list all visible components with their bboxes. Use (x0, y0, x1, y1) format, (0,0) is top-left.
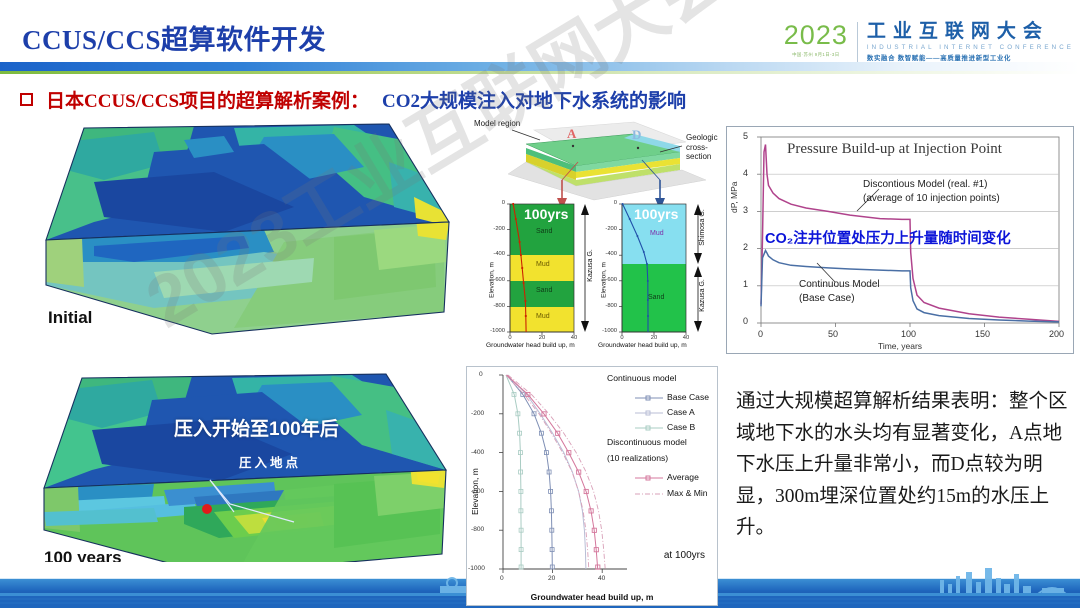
legend-header-continuous: Continuous model (607, 373, 676, 383)
model-region-diagram: Model region Geologic cross-section A D (474, 118, 729, 210)
profile-ytick-3: -600 (471, 488, 484, 495)
panel-a-ytick-0: 0 (488, 200, 505, 206)
logo-tagline-cn: 数实融合 数智赋能——高质量推进新型工业化 (867, 53, 1074, 62)
profile-ytick-4: -800 (471, 526, 484, 533)
subtitle-red: 日本CCUS/CCS项目的超算解析案例： (46, 86, 369, 113)
annotation-discontinuous-1: Discontious Model (real. #1) (863, 179, 988, 192)
label-model-region: Model region (474, 120, 520, 129)
logo-name-en: INDUSTRIAL INTERNET CONFERENCE (867, 44, 1074, 51)
profile-ytick-2: -400 (471, 449, 484, 456)
label-geologic: Geologic (686, 134, 718, 143)
conference-logo: 2023 中国·苏州 9月1日-3日 工业互联网大会 INDUSTRIAL IN… (784, 22, 1074, 62)
profile-note: at 100yrs (664, 550, 705, 561)
panel-a-lith-4: Mud (536, 313, 550, 320)
legend-item-average: Average (667, 472, 699, 482)
panel-a-xtick-0: 0 (502, 335, 518, 341)
label-point-a: A (567, 126, 576, 142)
panel-a-lith-2: Mud (536, 261, 550, 268)
injection-point-marker (202, 504, 212, 514)
panel-d-title: 100yrs (634, 206, 678, 222)
subtitle-blue: CO2大规模注入对地下水系统的影响 (382, 86, 686, 113)
subtitle: 日本CCUS/CCS项目的超算解析案例： CO2大规模注入对地下水系统的影响 (20, 86, 686, 113)
pressure-ytick-0: 0 (743, 316, 748, 326)
panel-d-ytick-4: -800 (600, 303, 617, 309)
annotation-continuous-2: (Base Case) (799, 293, 855, 306)
panel-a-ytick-5: -1000 (488, 328, 505, 334)
panel-d-ytick-1: -200 (600, 226, 617, 232)
pressure-chart-ylabel: dP, MPa (729, 181, 739, 213)
panel-a-ytick-1: -200 (488, 226, 505, 232)
panel-a-ytick-3: -600 (488, 277, 505, 283)
panel-a-lith-3: Sand (536, 287, 552, 294)
legend-item-maxmin: Max & Min (667, 488, 708, 498)
square-bullet-icon (20, 93, 33, 106)
panel-d-lith-1: Mud (650, 230, 664, 237)
pressure-xtick-4: 200 (1049, 329, 1064, 339)
legend-item-base-case: Base Case (667, 392, 709, 402)
pressure-ytick-3: 3 (743, 205, 748, 215)
logo-year-block: 2023 中国·苏州 9月1日-3日 (784, 22, 857, 58)
pressure-buildup-chart: Pressure Build-up at Injection Point CO₂… (726, 126, 1074, 354)
panel-a-xtick-2: 40 (566, 335, 582, 341)
panel-d-group-top: Shimosa G. (699, 209, 706, 246)
panel-d-xlabel: Groundwater head build up, m (598, 342, 687, 349)
profile-ytick-1: -200 (471, 410, 484, 417)
slide: CCUS/CCS超算软件开发 2023 中国·苏州 9月1日-3日 工业互联网大… (0, 0, 1080, 608)
visualization-100years: 压入开始至100年后 圧入地点 100 years (34, 372, 454, 592)
visualization-initial: Initial (34, 122, 454, 352)
profile-chart-svg (467, 367, 717, 605)
profile-xlabel: Groundwater head build up, m (467, 592, 717, 602)
annotation-continuous-1: Continuous Model (799, 279, 880, 292)
profile-ytick-5: -1000 (468, 565, 485, 572)
conclusion-text: 通过大规模超算解析结果表明：整个区域地下水的水头均有显著变化，A点地下水压上升量… (736, 386, 1076, 544)
legend-item-case-b: Case B (667, 422, 695, 432)
header-divider-blue (0, 62, 1080, 71)
block-3d-initial-svg (34, 122, 454, 352)
overlay-title-100y: 压入开始至100年后 (174, 414, 339, 441)
pressure-chart-highlight: CO₂注井位置处压力上升量随时间变化 (765, 227, 1011, 248)
profile-ytick-0: 0 (479, 371, 483, 378)
pressure-ytick-2: 2 (743, 242, 748, 252)
panel-d-ytick-0: 0 (600, 200, 617, 206)
panel-chart-a: 100yrs Sand Mud Sand Mud Elevation, m Gr… (488, 200, 598, 360)
panel-d-lith-2: Sand (648, 294, 664, 301)
panel-d-xtick-2: 40 (678, 335, 694, 341)
panel-a-xlabel: Groundwater head build up, m (486, 342, 575, 349)
panel-a-group-label: Kazusa G. (587, 249, 594, 282)
groundwater-profile-chart: Elevation, m Groundwater head build up, … (466, 366, 718, 606)
panel-a-ytick-4: -800 (488, 303, 505, 309)
logo-divider (857, 22, 858, 62)
pressure-xtick-2: 100 (901, 329, 916, 339)
pressure-chart-title: Pressure Build-up at Injection Point (787, 141, 1002, 158)
profile-xtick-2: 40 (598, 575, 605, 582)
page-title: CCUS/CCS超算软件开发 (22, 18, 326, 57)
header-divider-green (0, 71, 1080, 74)
pressure-ytick-1: 1 (743, 279, 748, 289)
panel-a-xtick-1: 20 (534, 335, 550, 341)
panel-d-ytick-2: -400 (600, 251, 617, 257)
pressure-chart-xlabel: Time, years (727, 341, 1073, 351)
panel-a-ytick-2: -400 (488, 251, 505, 257)
panel-a-lith-1: Sand (536, 228, 552, 235)
logo-year: 2023 (784, 22, 848, 49)
logo-name-block: 工业互联网大会 INDUSTRIAL INTERNET CONFERENCE 数… (867, 22, 1074, 62)
panel-d-ytick-3: -600 (600, 277, 617, 283)
annotation-discontinuous-2: (average of 10 injection points) (863, 193, 1000, 206)
pressure-ytick-5: 5 (743, 131, 748, 141)
panel-a-title: 100yrs (524, 206, 568, 222)
label-geologic-2: cross-section (686, 144, 729, 162)
legend-item-case-a: Case A (667, 407, 695, 417)
panel-d-group-bottom: Kazusa G. (699, 279, 706, 312)
panel-d-xtick-1: 20 (646, 335, 662, 341)
logo-name-cn: 工业互联网大会 (867, 22, 1074, 42)
model-region-svg (474, 118, 729, 210)
logo-year-subtext: 中国·苏州 9月1日-3日 (792, 52, 839, 58)
legend-subheader-realizations: (10 realizations) (607, 453, 668, 463)
overlay-sub-100y: 圧入地点 (239, 452, 301, 471)
panel-d-ytick-5: -1000 (600, 328, 617, 334)
block-caption-initial: Initial (48, 308, 92, 328)
profile-xtick-0: 0 (500, 575, 504, 582)
profile-xtick-1: 20 (548, 575, 555, 582)
pressure-ytick-4: 4 (743, 168, 748, 178)
panel-chart-d: 100yrs Mud Sand Elevation, m Groundwater… (600, 200, 718, 360)
pressure-xtick-0: 0 (758, 329, 763, 339)
panel-d-xtick-0: 0 (614, 335, 630, 341)
pressure-xtick-3: 150 (975, 329, 990, 339)
legend-header-discontinuous: Discontinuous model (607, 437, 687, 447)
label-point-d: D (632, 127, 641, 143)
pressure-xtick-1: 50 (828, 329, 838, 339)
